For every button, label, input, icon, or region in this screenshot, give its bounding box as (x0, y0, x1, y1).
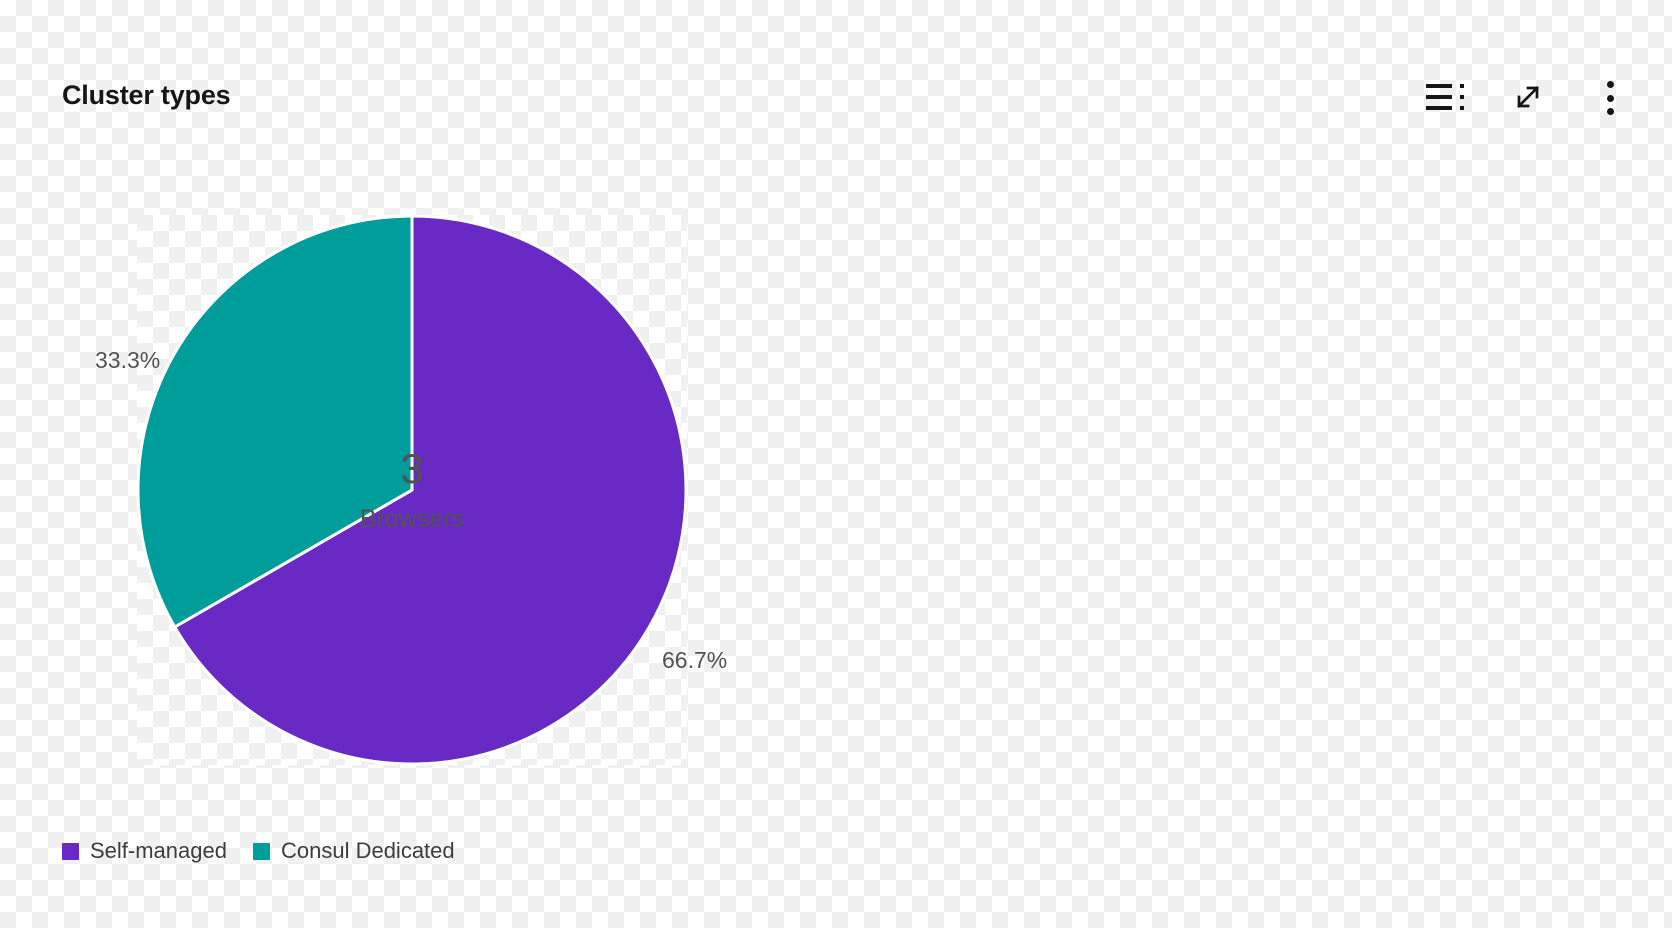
slice-label-consul-dedicated: 33.3% (95, 347, 160, 373)
chart-legend: Self-managed Consul Dedicated (62, 838, 455, 864)
legend-label-consul-dedicated: Consul Dedicated (281, 838, 455, 864)
donut-svg: 3 Browsers 33.3% 66.7% (137, 215, 687, 765)
donut-chart: 3 Browsers 33.3% 66.7% (137, 215, 687, 765)
chart-toolbar (1424, 76, 1632, 120)
donut-center-label: Browsers (360, 505, 464, 533)
chart-area: 3 Browsers 33.3% 66.7% (0, 150, 1672, 790)
legend-swatch-self-managed (62, 843, 79, 860)
overflow-menu-icon (1606, 81, 1614, 115)
slice-label-self-managed: 66.7% (662, 647, 727, 673)
legend-label-self-managed: Self-managed (90, 838, 227, 864)
table-view-button[interactable] (1424, 76, 1468, 120)
donut-center-value: 3 (400, 445, 423, 492)
expand-icon (1510, 79, 1546, 118)
legend-item-consul-dedicated[interactable]: Consul Dedicated (253, 838, 455, 864)
legend-swatch-consul-dedicated (253, 843, 270, 860)
table-view-icon (1426, 81, 1466, 115)
overflow-menu-button[interactable] (1588, 76, 1632, 120)
legend-item-self-managed[interactable]: Self-managed (62, 838, 227, 864)
expand-button[interactable] (1506, 76, 1550, 120)
page-title: Cluster types (62, 80, 230, 111)
chart-card-header: Cluster types (0, 0, 1672, 160)
